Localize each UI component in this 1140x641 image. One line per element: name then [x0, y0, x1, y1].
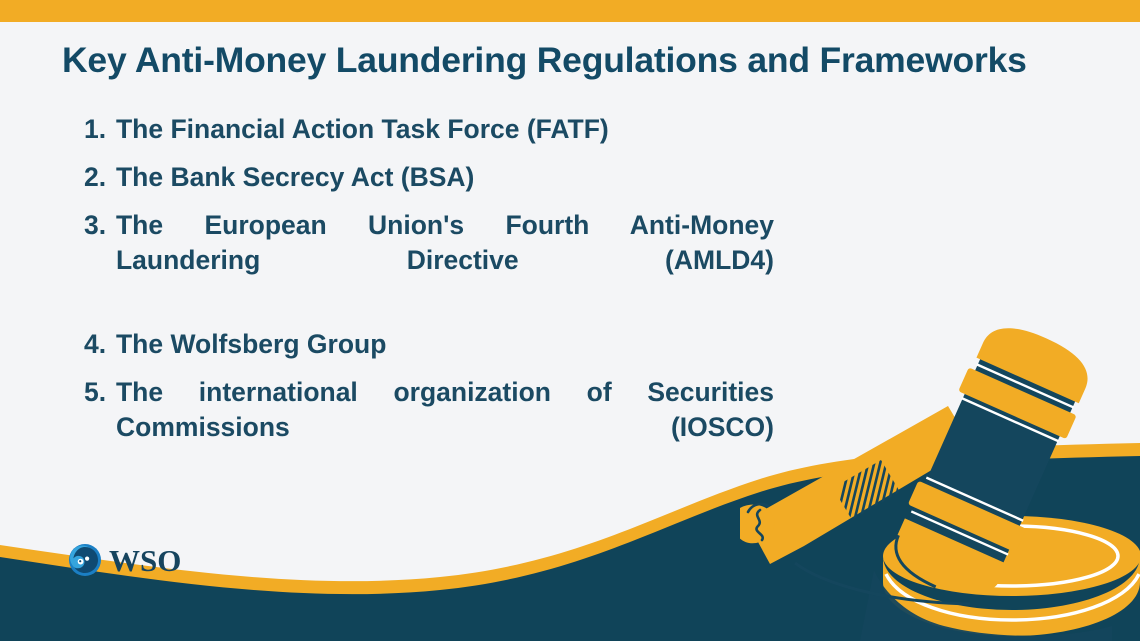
- slide-canvas: Key Anti-Money Laundering Regulations an…: [0, 0, 1140, 641]
- list-item-label: The Wolfsberg Group: [116, 327, 774, 363]
- brand-wordmark: WSO: [109, 545, 181, 576]
- page-title: Key Anti-Money Laundering Regulations an…: [62, 41, 1112, 80]
- gavel-handle: [740, 406, 972, 564]
- list-item-number: 5.: [84, 375, 116, 411]
- list-item-label: The European Union's Fourth Anti-Money L…: [116, 208, 774, 315]
- list-item: 2. The Bank Secrecy Act (BSA): [84, 160, 774, 196]
- gavel-head: [882, 320, 1100, 611]
- gavel-grip-ribs: [835, 456, 918, 526]
- list-item: 4. The Wolfsberg Group: [84, 327, 774, 363]
- list-item-number: 2.: [84, 160, 116, 196]
- globe-circle-icon: [68, 543, 102, 577]
- list-item-label: The Financial Action Task Force (FATF): [116, 112, 774, 148]
- list-item-number: 4.: [84, 327, 116, 363]
- list-item-label: The international organization of Securi…: [116, 375, 774, 482]
- brand-logo: WSO: [68, 543, 181, 577]
- list-item: 3. The European Union's Fourth Anti-Mone…: [84, 208, 774, 315]
- list-item: 5. The international organization of Sec…: [84, 375, 774, 482]
- list-item: 1. The Financial Action Task Force (FATF…: [84, 112, 774, 148]
- regulations-list: 1. The Financial Action Task Force (FATF…: [84, 112, 774, 494]
- judge-gavel-illustration: [740, 320, 1140, 641]
- list-item-number: 3.: [84, 208, 116, 244]
- list-item-label: The Bank Secrecy Act (BSA): [116, 160, 774, 196]
- sound-block: [795, 516, 1140, 641]
- list-item-number: 1.: [84, 112, 116, 148]
- top-accent-bar: [0, 0, 1140, 22]
